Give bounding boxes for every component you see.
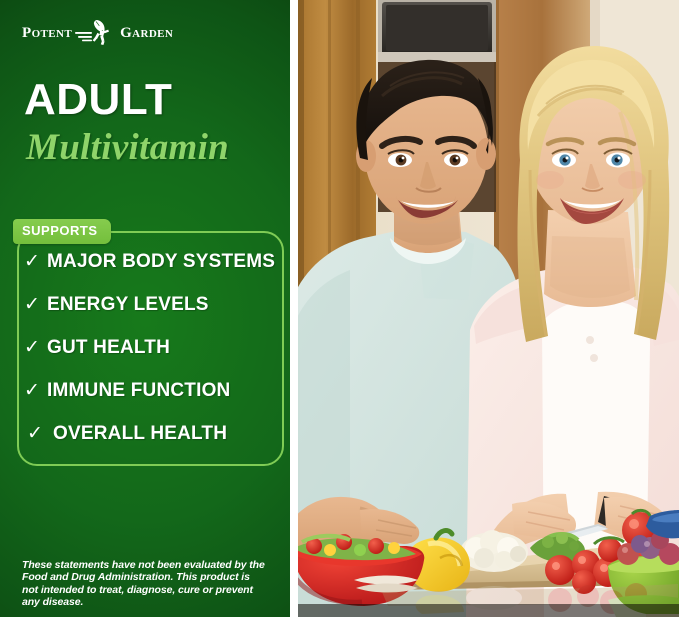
benefit-label: OVERALL HEALTH [47,424,227,443]
product-subtitle: Multivitamin [26,128,229,168]
benefit-item: ✓ IMMUNE FUNCTION [24,381,290,424]
check-icon: ✓ [24,338,47,357]
product-label-image: Potent [0,0,679,617]
supports-tab: SUPPORTS [13,219,111,244]
benefits-list: ✓ MAJOR BODY SYSTEMS ✓ ENERGY LEVELS ✓ G… [24,252,290,467]
brand-name-part2: Garden [120,25,173,42]
benefit-item: ✓ ENERGY LEVELS [24,295,290,338]
running-figure-with-leaf-icon [73,18,119,48]
lifestyle-photo [298,0,679,617]
check-icon: ✓ [24,381,47,400]
check-icon: ✓ [24,424,47,443]
check-icon: ✓ [24,295,47,314]
panel-divider [290,0,298,617]
benefit-label: GUT HEALTH [47,338,170,357]
benefit-label: ENERGY LEVELS [47,295,209,314]
supports-tab-label: SUPPORTS [22,223,98,238]
left-green-panel: Potent [0,0,290,617]
photo-illustration [298,0,679,617]
benefit-item: ✓ GUT HEALTH [24,338,290,381]
benefit-item: ✓ MAJOR BODY SYSTEMS [24,252,290,295]
check-icon: ✓ [24,252,47,271]
benefit-item: ✓ OVERALL HEALTH [24,424,290,467]
benefit-label: IMMUNE FUNCTION [47,381,230,400]
benefit-label: MAJOR BODY SYSTEMS [47,252,275,271]
brand-logo: Potent [22,18,173,48]
fda-disclaimer: These statements have not been evaluated… [22,559,267,608]
brand-name-part1: Potent [22,25,72,42]
product-title: ADULT [24,78,172,122]
